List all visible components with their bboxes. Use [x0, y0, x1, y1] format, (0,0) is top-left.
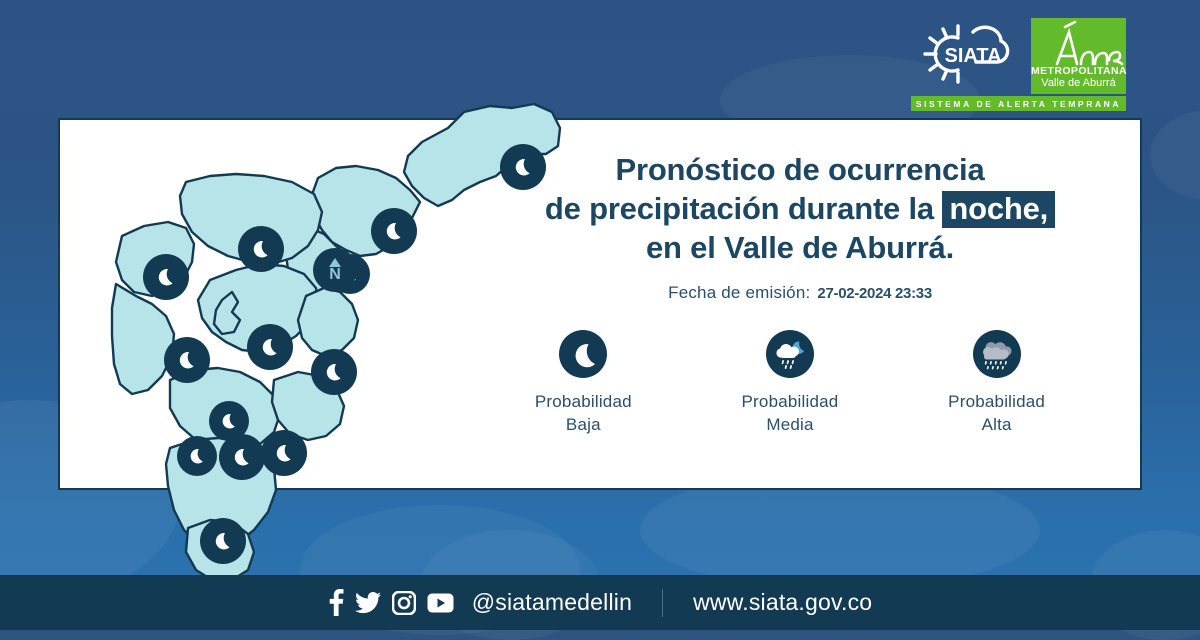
- title-line-1: Pronóstico de ocurrencia: [470, 150, 1130, 189]
- legend-label-baja: Probabilidad Baja: [493, 390, 673, 436]
- moon-glyph: [248, 236, 274, 262]
- map-marker-6-baja[interactable]: [164, 337, 210, 383]
- probability-legend: Probabilidad Baja: [480, 330, 1100, 436]
- page-title: Pronóstico de ocurrencia de precipitació…: [470, 150, 1130, 267]
- map-marker-1-baja[interactable]: [371, 208, 417, 254]
- logo-row: SIATA METROPOLITANA Valle de Aburrá: [911, 18, 1126, 94]
- title-highlight-noche: noche,: [942, 191, 1055, 228]
- area-line2: Valle de Aburrá: [1031, 77, 1126, 90]
- facebook-icon[interactable]: [328, 589, 344, 616]
- moon-icon: [229, 444, 255, 470]
- moon-glyph: [381, 218, 407, 244]
- aburra-valley-map[interactable]: N: [60, 50, 580, 570]
- area-line1: METROPOLITANA: [1031, 65, 1126, 77]
- emission-date-value: 27-02-2024 23:33: [817, 285, 931, 302]
- moon-glyph: [229, 444, 255, 470]
- legend-media-line2: Media: [700, 413, 880, 436]
- footer-bar: @siatamedellin www.siata.gov.co: [0, 575, 1200, 630]
- map-marker-12-baja[interactable]: [200, 518, 246, 564]
- title-line-2-text: de precipitación durante la: [545, 191, 934, 226]
- tagline-bar: SISTEMA DE ALERTA TEMPRANA: [911, 96, 1126, 111]
- area-script-glyph: [1031, 18, 1126, 72]
- legend-item-alta[interactable]: Probabilidad Alta: [907, 330, 1087, 436]
- map-marker-4-baja[interactable]: [143, 254, 189, 300]
- moon-icon: [257, 334, 283, 360]
- legend-alta-line1: Probabilidad: [907, 390, 1087, 413]
- moon-glyph: [321, 359, 347, 385]
- tagline-text: SISTEMA DE ALERTA TEMPRANA: [916, 99, 1121, 109]
- map-marker-10-baja[interactable]: [177, 436, 217, 476]
- legend-alta-line2: Alta: [907, 413, 1087, 436]
- moon-icon: [271, 440, 297, 466]
- moon-icon: [153, 264, 179, 290]
- siata-logo[interactable]: SIATA: [911, 18, 1031, 90]
- compass-rose: N: [313, 248, 357, 292]
- website-url[interactable]: www.siata.gov.co: [693, 589, 872, 616]
- moon-icon: [218, 410, 241, 433]
- map-marker-2-baja[interactable]: [238, 226, 284, 272]
- moon-glyph: [210, 528, 236, 554]
- moon-icon: [559, 330, 607, 378]
- moon-icon: [186, 445, 209, 468]
- sun-cloud-icon: SIATA: [911, 18, 1031, 90]
- municipality-west-strip: [112, 284, 174, 394]
- moon-glyph: [257, 334, 283, 360]
- municipality-envigado: [298, 288, 358, 356]
- instagram-icon[interactable]: [392, 591, 416, 615]
- legend-media-line1: Probabilidad: [700, 390, 880, 413]
- compass-label: N: [329, 267, 341, 282]
- legend-baja-line2: Baja: [493, 413, 673, 436]
- siata-wordmark: SIATA: [944, 45, 1001, 67]
- legend-item-media[interactable]: Probabilidad Media: [700, 330, 880, 436]
- map-marker-11-baja[interactable]: [261, 430, 307, 476]
- emission-date-label: Fecha de emisión:: [668, 283, 810, 303]
- area-metropolitana-logo[interactable]: METROPOLITANA Valle de Aburrá: [1031, 18, 1126, 94]
- youtube-icon[interactable]: [427, 593, 454, 613]
- moon-glyph: [218, 410, 241, 433]
- legend-baja-line1: Probabilidad: [493, 390, 673, 413]
- area-logo-subtitle: METROPOLITANA Valle de Aburrá: [1031, 65, 1126, 90]
- map-marker-5-baja[interactable]: [247, 324, 293, 370]
- moon-icon-glyph: [559, 330, 607, 378]
- title-line-2: de precipitación durante la noche,: [470, 189, 1130, 228]
- social-icons: [328, 589, 454, 616]
- forecast-text-block: Pronóstico de ocurrencia de precipitació…: [470, 150, 1130, 303]
- cloud-rain-moon-icon: [766, 330, 814, 378]
- moon-glyph: [271, 440, 297, 466]
- legend-item-baja[interactable]: Probabilidad Baja: [493, 330, 673, 436]
- moon-icon: [248, 236, 274, 262]
- moon-icon: [381, 218, 407, 244]
- moon-glyph: [153, 264, 179, 290]
- map-marker-7-baja[interactable]: [311, 349, 357, 395]
- legend-label-alta: Probabilidad Alta: [907, 390, 1087, 436]
- moon-icon: [174, 347, 200, 373]
- map-svg: [60, 50, 580, 570]
- header-logos: SIATA METROPOLITANA Valle de Aburrá SIS: [911, 18, 1126, 111]
- moon-glyph: [174, 347, 200, 373]
- cloud-heavy-rain-icon: [973, 330, 1021, 378]
- map-marker-9-baja[interactable]: [219, 434, 265, 480]
- title-line-3: en el Valle de Aburrá.: [470, 228, 1130, 267]
- legend-label-media: Probabilidad Media: [700, 390, 880, 436]
- footer-divider: [662, 589, 663, 617]
- cloud-rain-moon-glyph: [766, 330, 814, 378]
- cloud-heavy-rain-glyph: [973, 330, 1021, 378]
- social-handle[interactable]: @siatamedellin: [472, 589, 632, 616]
- twitter-icon[interactable]: [355, 592, 381, 614]
- moon-icon: [210, 528, 236, 554]
- moon-icon: [321, 359, 347, 385]
- emission-date: Fecha de emisión: 27-02-2024 23:33: [470, 283, 1130, 303]
- moon-glyph: [186, 445, 209, 468]
